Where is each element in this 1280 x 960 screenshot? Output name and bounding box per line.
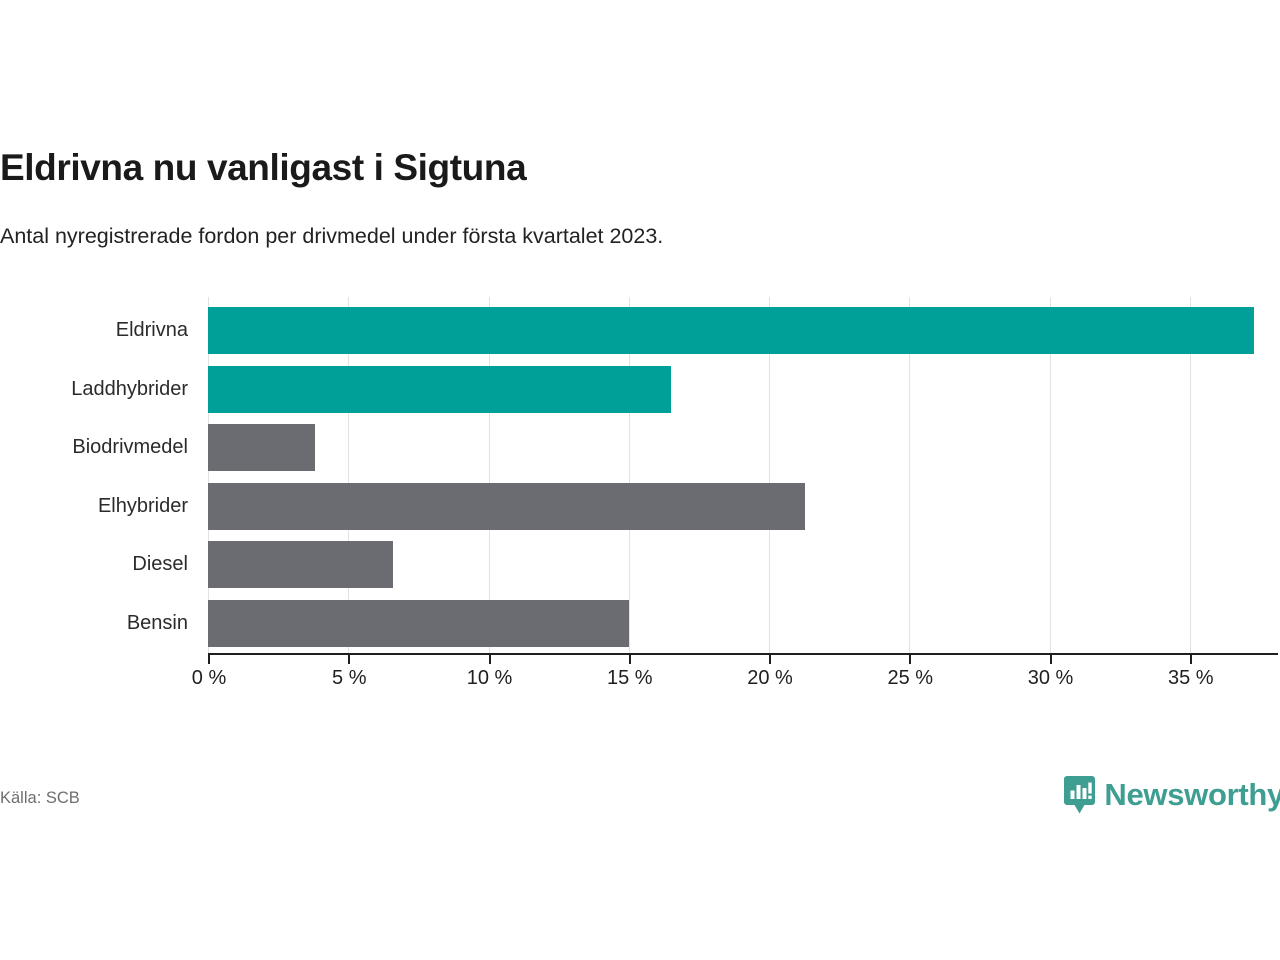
x-axis-tick	[909, 655, 911, 664]
y-axis-label: Eldrivna	[116, 307, 188, 354]
bar	[208, 483, 805, 530]
bar	[208, 366, 671, 413]
bar	[208, 307, 1254, 354]
y-axis-label: Biodrivmedel	[72, 424, 188, 471]
bar-chart-speech-bubble-icon	[1064, 776, 1095, 814]
x-axis-tick	[629, 655, 631, 664]
x-axis-line	[208, 653, 1278, 655]
y-axis-label: Laddhybrider	[71, 366, 188, 413]
y-axis-label: Diesel	[132, 541, 188, 588]
y-axis-label: Elhybrider	[98, 483, 188, 530]
newsworthy-logo[interactable]: Newsworthy	[1064, 770, 1280, 820]
chart-plot: EldrivnaLaddhybriderBiodrivmedelElhybrid…	[0, 290, 1280, 690]
y-axis-category-labels: EldrivnaLaddhybriderBiodrivmedelElhybrid…	[0, 297, 196, 653]
source-note: Källa: SCB	[0, 789, 80, 808]
logo-wordmark: Newsworthy	[1104, 778, 1280, 812]
x-axis-tick	[769, 655, 771, 664]
x-axis-tick-label: 10 %	[467, 667, 513, 690]
x-axis-tick-label: 0 %	[192, 667, 226, 690]
x-axis-tick-label: 20 %	[747, 667, 793, 690]
bar	[208, 541, 393, 588]
x-axis-tick-label: 15 %	[607, 667, 653, 690]
x-axis-tick	[348, 655, 350, 664]
x-axis-tick-label: 5 %	[332, 667, 366, 690]
page-title: Eldrivna nu vanligast i Sigtuna	[0, 146, 526, 190]
x-axis-tick-label: 25 %	[887, 667, 933, 690]
x-axis-tick	[489, 655, 491, 664]
y-axis-label: Bensin	[127, 600, 188, 647]
x-axis-tick	[1050, 655, 1052, 664]
bar	[208, 424, 315, 471]
bar	[208, 600, 629, 647]
x-axis-tick	[208, 655, 210, 664]
x-axis-tick	[1190, 655, 1192, 664]
bars-and-gridlines	[208, 297, 1252, 653]
x-axis-tick-label: 35 %	[1168, 667, 1214, 690]
chart-page: Eldrivna nu vanligast i Sigtuna Antal ny…	[0, 0, 1280, 960]
x-axis-tick-label: 30 %	[1028, 667, 1074, 690]
chart-subtitle: Antal nyregistrerade fordon per drivmede…	[0, 222, 663, 250]
